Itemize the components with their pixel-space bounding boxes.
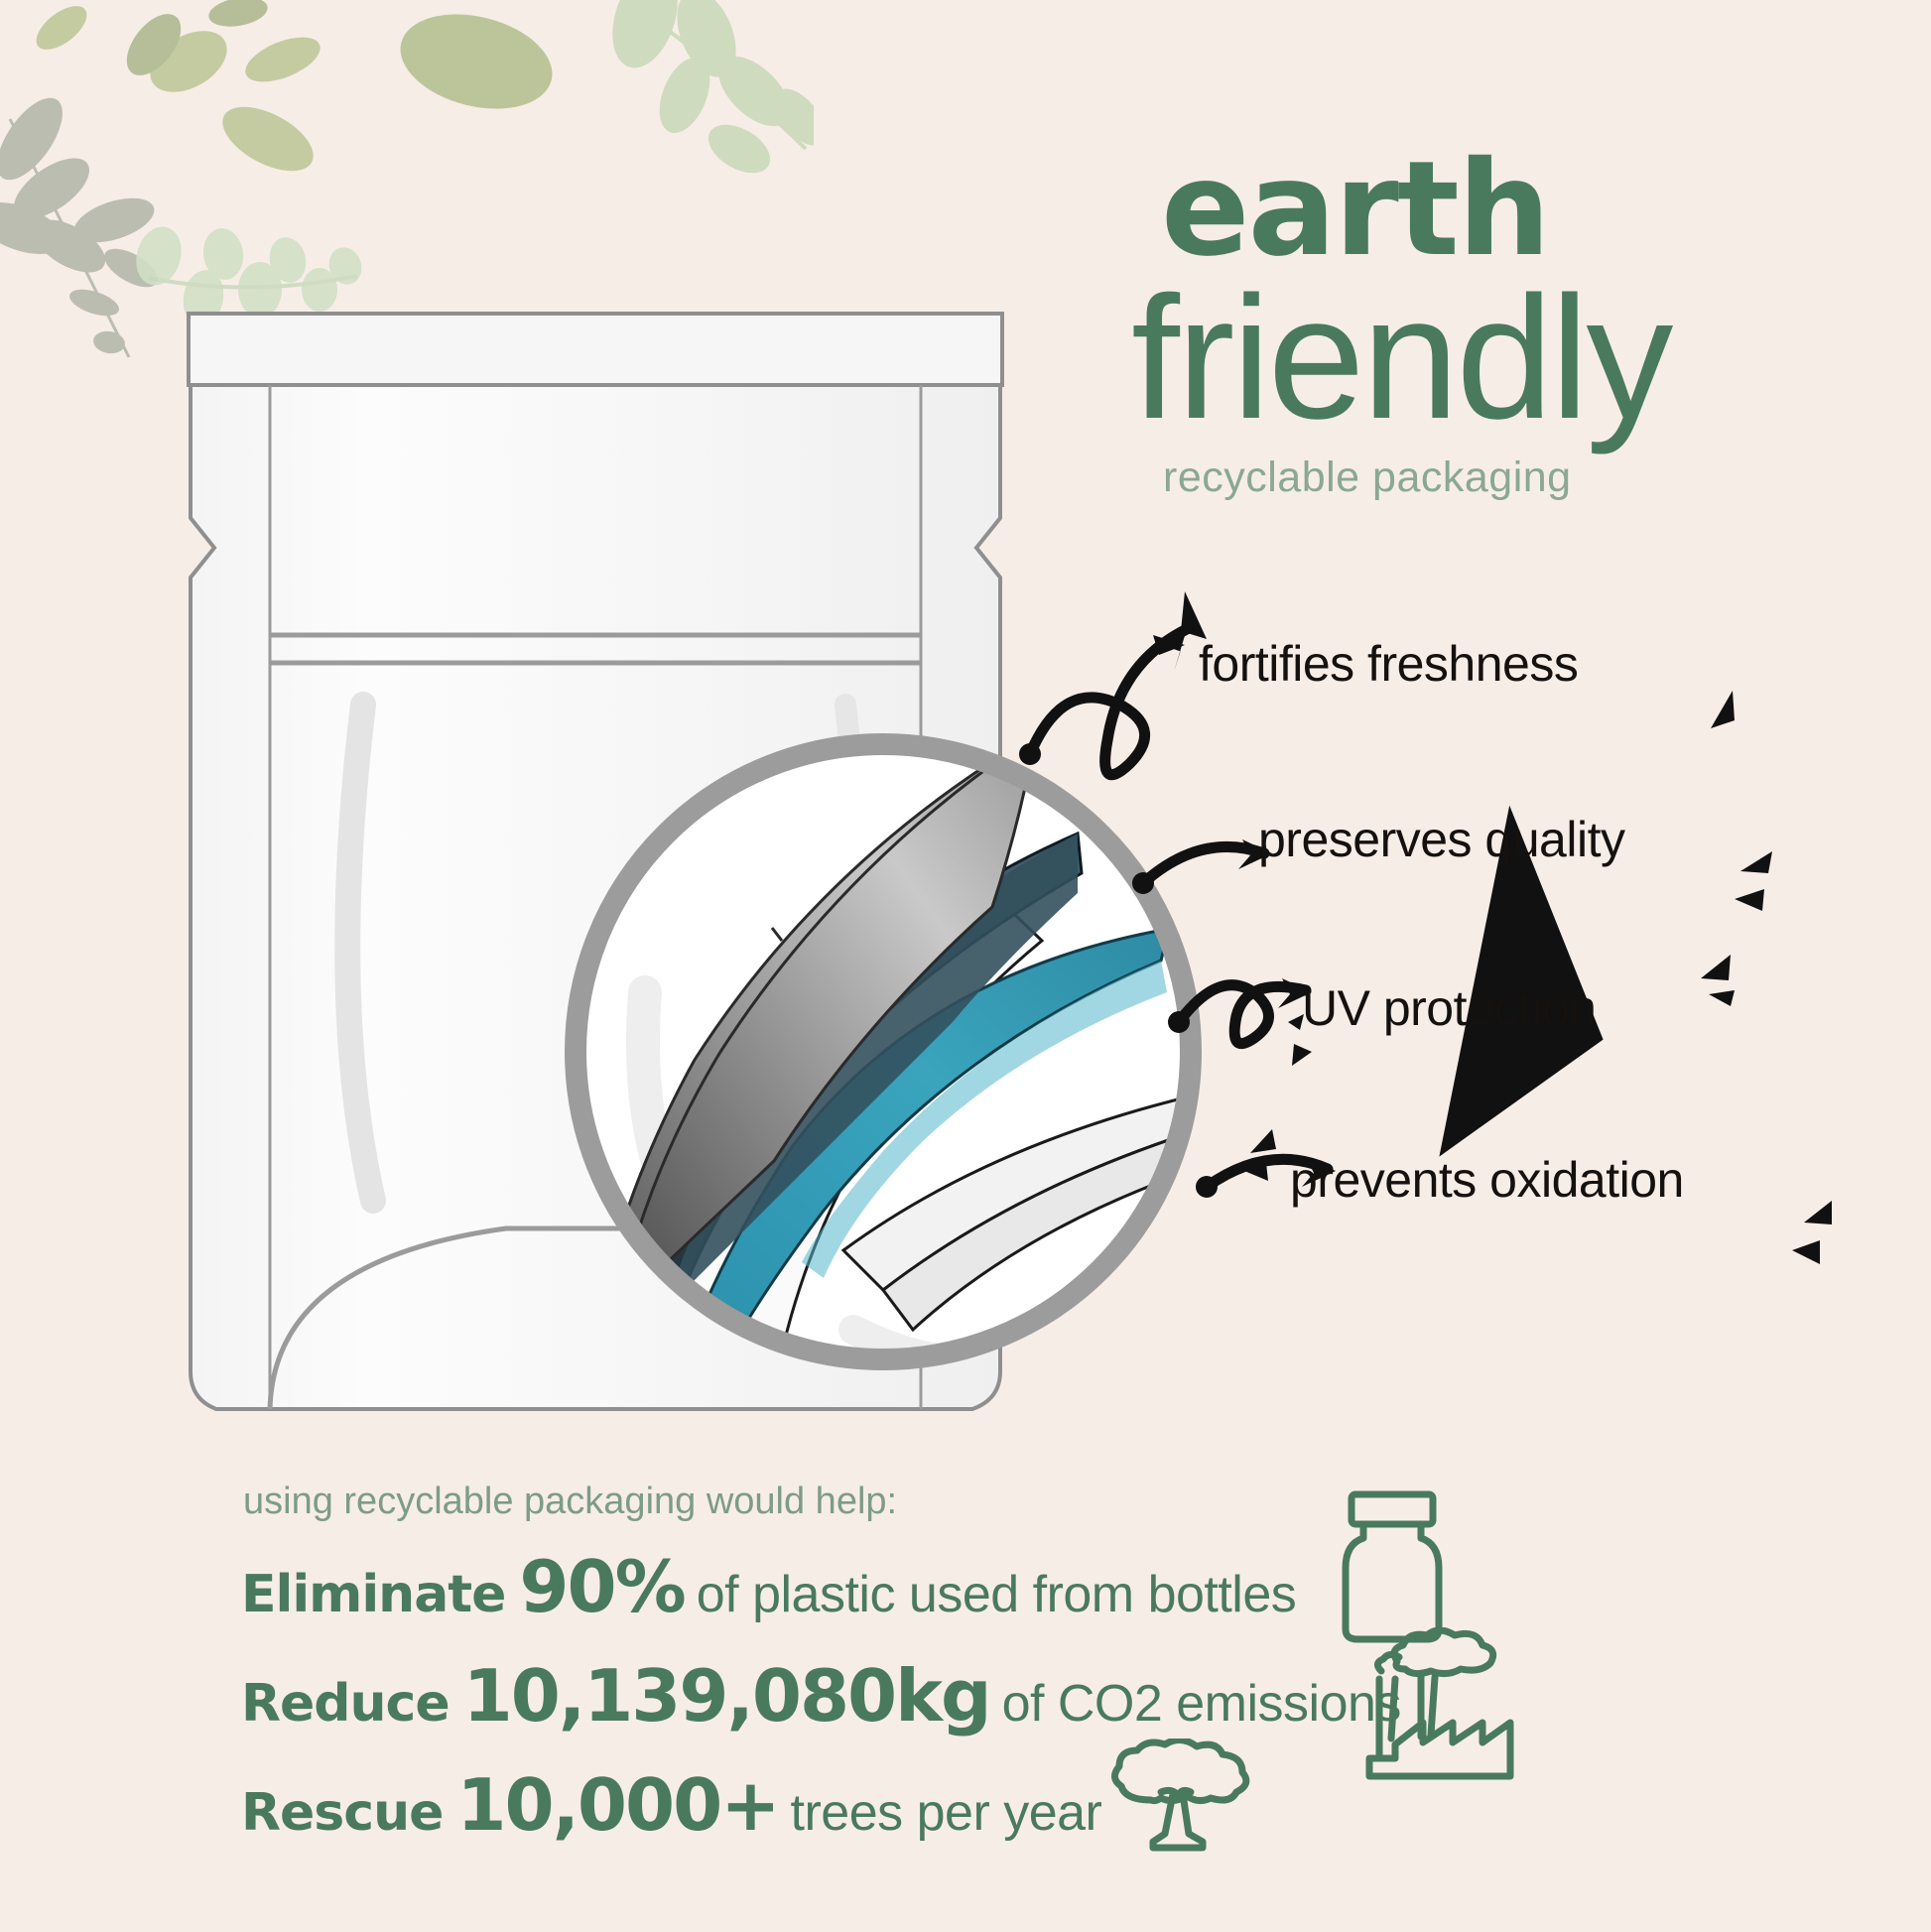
feature-label-uv-protection: UV protection [1302,979,1596,1037]
arrow-head-1 [1161,629,1190,673]
sparkle-icon [1677,685,1766,774]
sparkle-icon [1776,1189,1866,1288]
stat-number: 10,000+ [456,1763,778,1847]
stat-tail: trees per year [791,1783,1102,1843]
stats-intro: using recyclable packaging would help: [243,1481,1432,1523]
stat-number: 90% [519,1545,684,1628]
sparkle-icon [1228,782,1931,1484]
stat-verb: Eliminate [241,1565,505,1624]
pouch-top-seal [189,314,1002,385]
stats-block: using recyclable packaging would help: E… [241,1481,1432,1872]
sparkle-icon [1717,841,1806,941]
stat-tail: of CO2 emissions [1002,1674,1401,1734]
leaf-icon [600,0,814,183]
earth-friendly-poster: earth friendly recyclable packaging fort… [0,0,1931,1932]
feature-label-fortifies-freshness: fortifies freshness [1199,635,1578,693]
headline-subtitle: recyclable packaging [1163,453,1915,502]
leaf-icon [116,0,270,85]
headline-line-earth: earth [1161,147,1915,273]
stat-number: 10,139,080kg [463,1654,990,1738]
eucalyptus-sprig-icon [0,87,164,357]
stat-tail: of plastic used from bottles [697,1565,1297,1624]
feature-label-prevents-oxidation: prevents oxidation [1290,1151,1684,1209]
sparkle-icon [1673,947,1762,1036]
headline-block: earth friendly recyclable packaging [1131,147,1915,502]
leaf-icon [29,0,562,185]
stat-row: Rescue 10,000+ trees per year [241,1763,1432,1847]
magnified-film-layers [526,695,1240,1409]
stat-verb: Reduce [241,1674,450,1734]
stat-row: Eliminate 90% of plastic used from bottl… [241,1545,1432,1628]
feature-label-preserves-quality: preserves quality [1258,811,1624,868]
stat-row: Reduce 10,139,080kg of CO2 emissions [241,1654,1432,1738]
stat-verb: Rescue [241,1783,443,1843]
headline-line-friendly: friendly [1131,279,1915,440]
